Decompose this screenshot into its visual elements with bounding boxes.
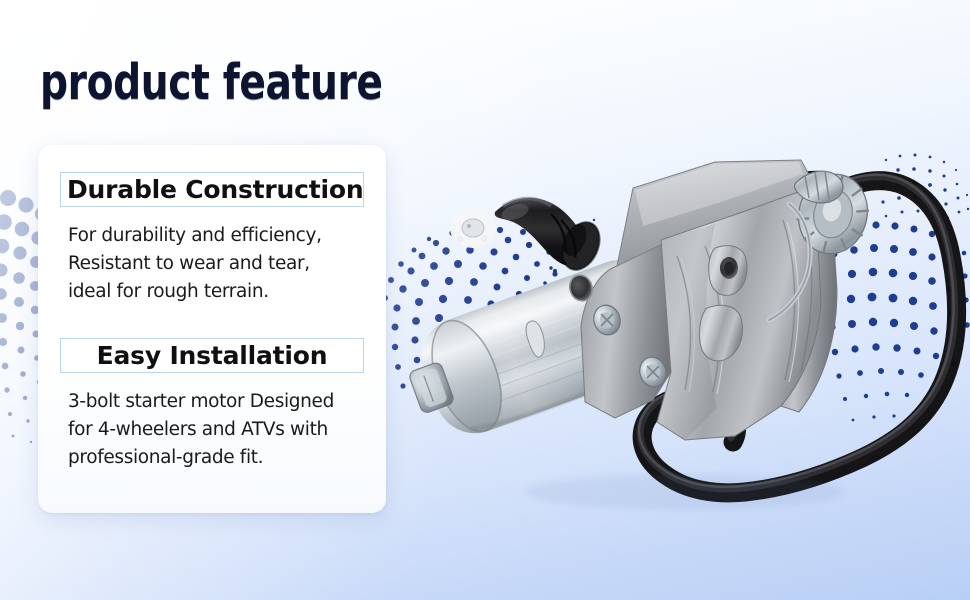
feature-card: Durable Construction For durability and … — [38, 145, 386, 513]
feature-block-durable-construction: Durable Construction For durability and … — [60, 172, 364, 306]
rubber-boot-terminal — [495, 198, 607, 276]
feature-body-1: For durability and efficiency, Resistant… — [60, 222, 364, 306]
feature-body-2: 3-bolt starter motor Designed for 4-whee… — [60, 388, 364, 472]
product-image-atv-starter-motor — [385, 140, 970, 560]
feature-block-easy-installation: Easy Installation 3-bolt starter motor D… — [60, 338, 364, 472]
white-washer-grommet — [450, 208, 496, 248]
feature-heading-2: Easy Installation — [60, 338, 364, 373]
mounting-boss-upper — [709, 246, 747, 296]
infographic-canvas: product feature Durable Construction For… — [0, 0, 970, 600]
page-title: product feature — [40, 58, 383, 107]
feature-heading-1: Durable Construction — [60, 172, 364, 207]
